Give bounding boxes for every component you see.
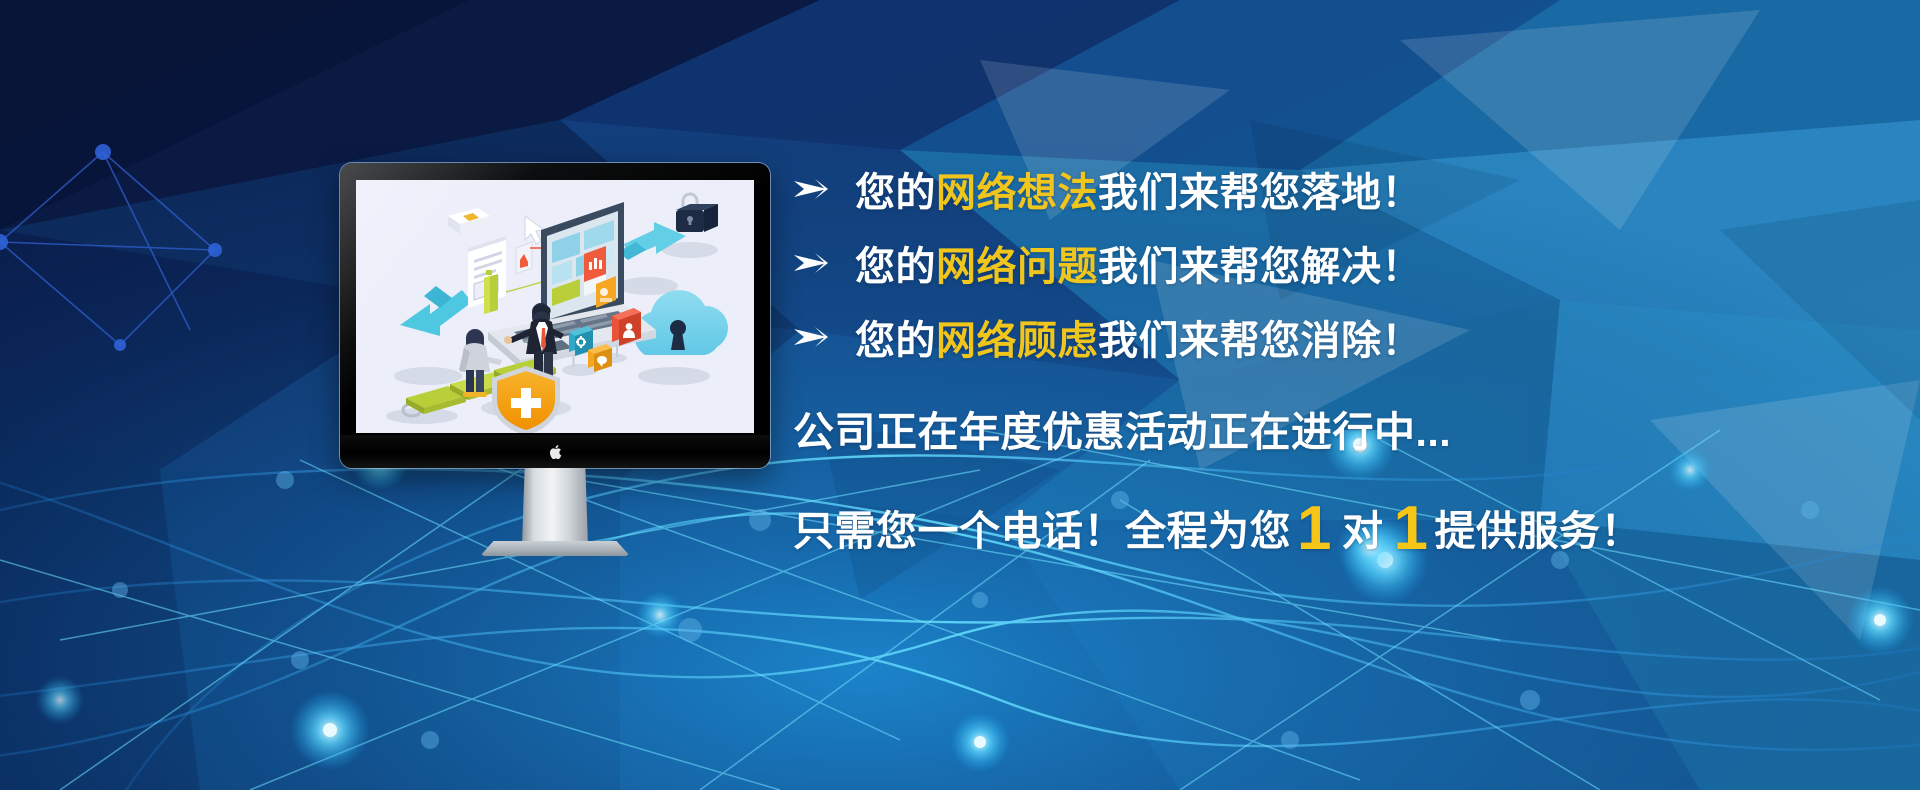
bullet-1-post: 我们来帮您落地！ bbox=[1098, 171, 1422, 215]
bullet-3-pre: 您的 bbox=[855, 319, 936, 363]
bullet-row-1: 您的网络想法我们来帮您落地！ bbox=[793, 152, 1803, 226]
bullet-row-3: 您的网络顾虑我们来帮您消除！ bbox=[793, 300, 1803, 374]
hero-banner: 您的网络想法我们来帮您落地！ 您的网络问题我们来帮您解决！ 您的网络顾虑我们来帮… bbox=[0, 0, 1920, 790]
marketing-copy: 您的网络想法我们来帮您落地！ 您的网络问题我们来帮您解决！ 您的网络顾虑我们来帮… bbox=[793, 152, 1803, 557]
bullet-row-2: 您的网络问题我们来帮您解决！ bbox=[793, 226, 1803, 300]
promo-text: 公司正在年度优惠活动正在进行中... bbox=[793, 398, 1803, 458]
imac-display bbox=[340, 163, 770, 533]
arrow-bullet-icon bbox=[793, 326, 829, 348]
phone-tail: 提供服务！ bbox=[1434, 497, 1642, 557]
arrow-bullet-icon bbox=[793, 178, 829, 200]
one-to-one-second: 1 bbox=[1387, 498, 1434, 560]
bullet-1-pre: 您的 bbox=[855, 171, 936, 215]
bullet-3-post: 我们来帮您消除！ bbox=[1098, 319, 1422, 363]
chart-card-icon bbox=[516, 242, 532, 274]
monitor-stand-base bbox=[480, 541, 630, 556]
isometric-network-security-illustration bbox=[356, 180, 754, 433]
phone-lead: 只需您一个电话！全程为您 bbox=[793, 497, 1291, 557]
bullet-text-2: 您的网络问题我们来帮您解决！ bbox=[855, 234, 1422, 292]
bullet-2-highlight: 网络问题 bbox=[936, 245, 1098, 289]
bullet-text-1: 您的网络想法我们来帮您落地！ bbox=[855, 160, 1422, 218]
bullet-2-post: 我们来帮您解决！ bbox=[1098, 245, 1422, 289]
arrow-bullet-icon bbox=[793, 252, 829, 274]
bullet-1-highlight: 网络想法 bbox=[936, 171, 1098, 215]
phone-cta-text: 只需您一个电话！全程为您 1 对 1 提供服务！ bbox=[793, 494, 1803, 557]
one-to-one-first: 1 bbox=[1291, 498, 1338, 560]
monitor-stand-neck bbox=[522, 468, 588, 546]
one-to-one-mid: 对 bbox=[1338, 497, 1388, 557]
monitor-chin bbox=[340, 435, 770, 468]
bullet-3-highlight: 网络顾虑 bbox=[936, 319, 1098, 363]
apple-logo-icon bbox=[549, 444, 562, 460]
bullet-2-pre: 您的 bbox=[855, 245, 936, 289]
bullet-text-3: 您的网络顾虑我们来帮您消除！ bbox=[855, 308, 1422, 366]
monitor-screen bbox=[356, 180, 754, 433]
